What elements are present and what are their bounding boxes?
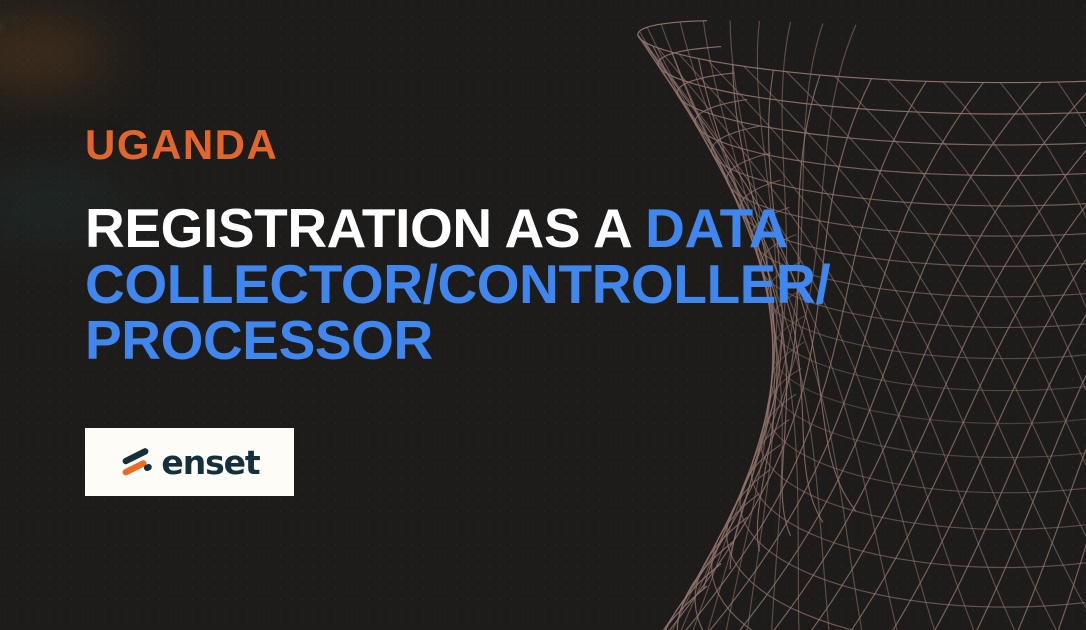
code-line: Text('data'),: [0, 6, 28, 67]
enset-slash-mark-icon: [119, 447, 152, 478]
code-line: crossAxisAlignment: CrossAxisAlignment.s…: [0, 0, 248, 19]
page-title: REGISTRATION AS A DATA COLLECTOR/CONTROL…: [85, 200, 875, 368]
brand-logo: enset: [85, 428, 294, 496]
logo-wordmark: enset: [161, 446, 259, 479]
decorative-glow: [0, 20, 110, 90]
decorative-glow: [30, 545, 140, 605]
headline-plain: REGISTRATION AS A: [85, 197, 645, 259]
code-line: children: <Widget>[: [0, 0, 66, 43]
country-eyebrow: UGANDA: [85, 124, 915, 166]
decorative-glow: [290, 540, 380, 590]
decorative-glow: [130, 490, 260, 550]
presentation-slide: @override Widget build(BuildContext cont…: [0, 0, 1086, 630]
logo-lockup: enset: [119, 446, 259, 479]
slide-text-block: UGANDA REGISTRATION AS A DATA COLLECTOR/…: [85, 124, 915, 368]
